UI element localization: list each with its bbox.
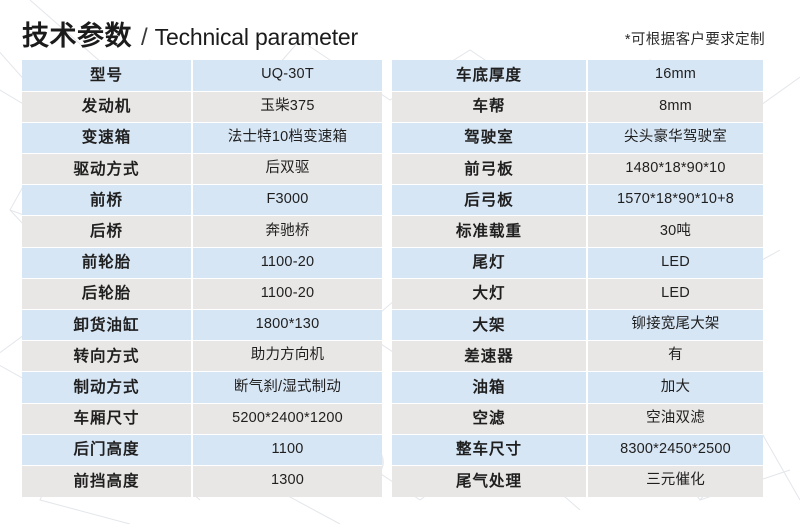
spec-value-cell: 尖头豪华驾驶室	[587, 122, 763, 153]
spec-value-cell: UQ-30T	[192, 60, 382, 91]
spec-value-cell: 法士特10档变速箱	[192, 122, 382, 153]
spec-label-cell: 车厢尺寸	[22, 403, 192, 434]
table-row: 后门高度1100	[22, 434, 382, 465]
table-row: 变速箱法士特10档变速箱	[22, 122, 382, 153]
page-header: 技术参数 / Technical parameter *可根据客户要求定制	[0, 0, 800, 58]
table-row: 发动机玉柴375	[22, 91, 382, 122]
title-separator: /	[141, 24, 148, 52]
spec-label-cell: 油箱	[392, 372, 587, 403]
spec-label-cell: 前挡高度	[22, 465, 192, 496]
table-row: 卸货油缸1800*130	[22, 310, 382, 341]
table-row: 前桥F3000	[22, 185, 382, 216]
spec-value-cell: 1800*130	[192, 310, 382, 341]
spec-label-cell: 尾气处理	[392, 465, 587, 496]
customization-note: *可根据客户要求定制	[625, 28, 765, 49]
spec-value-cell: 8mm	[587, 91, 763, 122]
table-row: 转向方式助力方向机	[22, 341, 382, 372]
spec-label-cell: 标准载重	[392, 216, 587, 247]
spec-value-cell: 三元催化	[587, 465, 763, 496]
table-row: 油箱加大	[392, 372, 763, 403]
table-row: 尾气处理三元催化	[392, 465, 763, 496]
table-row: 制动方式断气刹/湿式制动	[22, 372, 382, 403]
table-row: 大架铆接宽尾大架	[392, 310, 763, 341]
table-row: 驱动方式后双驱	[22, 154, 382, 185]
spec-sheet-page: 技术参数 / Technical parameter *可根据客户要求定制 型号…	[0, 0, 800, 524]
spec-label-cell: 前弓板	[392, 154, 587, 185]
table-row: 前弓板1480*18*90*10	[392, 154, 763, 185]
spec-label-cell: 驱动方式	[22, 154, 192, 185]
spec-value-cell: 1100	[192, 434, 382, 465]
spec-value-cell: 1100-20	[192, 278, 382, 309]
spec-table-right-body: 车底厚度16mm车帮8mm驾驶室尖头豪华驾驶室前弓板1480*18*90*10后…	[392, 60, 763, 497]
spec-value-cell: F3000	[192, 185, 382, 216]
spec-value-cell: LED	[587, 278, 763, 309]
table-row: 车帮8mm	[392, 91, 763, 122]
spec-value-cell: 1300	[192, 465, 382, 496]
table-row: 驾驶室尖头豪华驾驶室	[392, 122, 763, 153]
spec-label-cell: 转向方式	[22, 341, 192, 372]
spec-table-right: 车底厚度16mm车帮8mm驾驶室尖头豪华驾驶室前弓板1480*18*90*10后…	[392, 60, 763, 497]
spec-value-cell: 5200*2400*1200	[192, 403, 382, 434]
page-title-cn: 技术参数	[22, 14, 132, 53]
spec-value-cell: 后双驱	[192, 154, 382, 185]
page-title-en: Technical parameter	[155, 24, 358, 51]
table-row: 标准载重30吨	[392, 216, 763, 247]
table-row: 车厢尺寸5200*2400*1200	[22, 403, 382, 434]
spec-label-cell: 驾驶室	[392, 122, 587, 153]
spec-value-cell: 16mm	[587, 60, 763, 91]
spec-label-cell: 尾灯	[392, 247, 587, 278]
table-row: 后轮胎1100-20	[22, 278, 382, 309]
spec-label-cell: 整车尺寸	[392, 434, 587, 465]
spec-label-cell: 变速箱	[22, 122, 192, 153]
spec-label-cell: 型号	[22, 60, 192, 91]
table-row: 尾灯LED	[392, 247, 763, 278]
spec-value-cell: 1570*18*90*10+8	[587, 185, 763, 216]
table-row: 车底厚度16mm	[392, 60, 763, 91]
spec-label-cell: 车帮	[392, 91, 587, 122]
table-row: 前挡高度1300	[22, 465, 382, 496]
table-row: 整车尺寸8300*2450*2500	[392, 434, 763, 465]
spec-label-cell: 后桥	[22, 216, 192, 247]
table-row: 空滤空油双滤	[392, 403, 763, 434]
spec-label-cell: 发动机	[22, 91, 192, 122]
spec-label-cell: 前桥	[22, 185, 192, 216]
spec-value-cell: 加大	[587, 372, 763, 403]
spec-label-cell: 大架	[392, 310, 587, 341]
spec-value-cell: 有	[587, 341, 763, 372]
table-row: 大灯LED	[392, 278, 763, 309]
table-row: 后弓板1570*18*90*10+8	[392, 185, 763, 216]
spec-label-cell: 卸货油缸	[22, 310, 192, 341]
spec-value-cell: 8300*2450*2500	[587, 434, 763, 465]
table-row: 型号UQ-30T	[22, 60, 382, 91]
spec-label-cell: 差速器	[392, 341, 587, 372]
spec-label-cell: 空滤	[392, 403, 587, 434]
spec-table-left-body: 型号UQ-30T发动机玉柴375变速箱法士特10档变速箱驱动方式后双驱前桥F30…	[22, 60, 382, 497]
spec-value-cell: 30吨	[587, 216, 763, 247]
table-row: 后桥奔驰桥	[22, 216, 382, 247]
spec-value-cell: 玉柴375	[192, 91, 382, 122]
spec-table-left: 型号UQ-30T发动机玉柴375变速箱法士特10档变速箱驱动方式后双驱前桥F30…	[22, 60, 382, 497]
spec-value-cell: 1100-20	[192, 247, 382, 278]
spec-value-cell: 奔驰桥	[192, 216, 382, 247]
table-row: 前轮胎1100-20	[22, 247, 382, 278]
spec-value-cell: 断气刹/湿式制动	[192, 372, 382, 403]
spec-label-cell: 前轮胎	[22, 247, 192, 278]
spec-label-cell: 后轮胎	[22, 278, 192, 309]
table-row: 差速器有	[392, 341, 763, 372]
spec-label-cell: 大灯	[392, 278, 587, 309]
page-title: 技术参数 / Technical parameter	[22, 14, 358, 53]
spec-value-cell: LED	[587, 247, 763, 278]
spec-label-cell: 后门高度	[22, 434, 192, 465]
spec-label-cell: 车底厚度	[392, 60, 587, 91]
spec-value-cell: 铆接宽尾大架	[587, 310, 763, 341]
spec-value-cell: 1480*18*90*10	[587, 154, 763, 185]
spec-label-cell: 制动方式	[22, 372, 192, 403]
spec-label-cell: 后弓板	[392, 185, 587, 216]
spec-value-cell: 空油双滤	[587, 403, 763, 434]
spec-value-cell: 助力方向机	[192, 341, 382, 372]
